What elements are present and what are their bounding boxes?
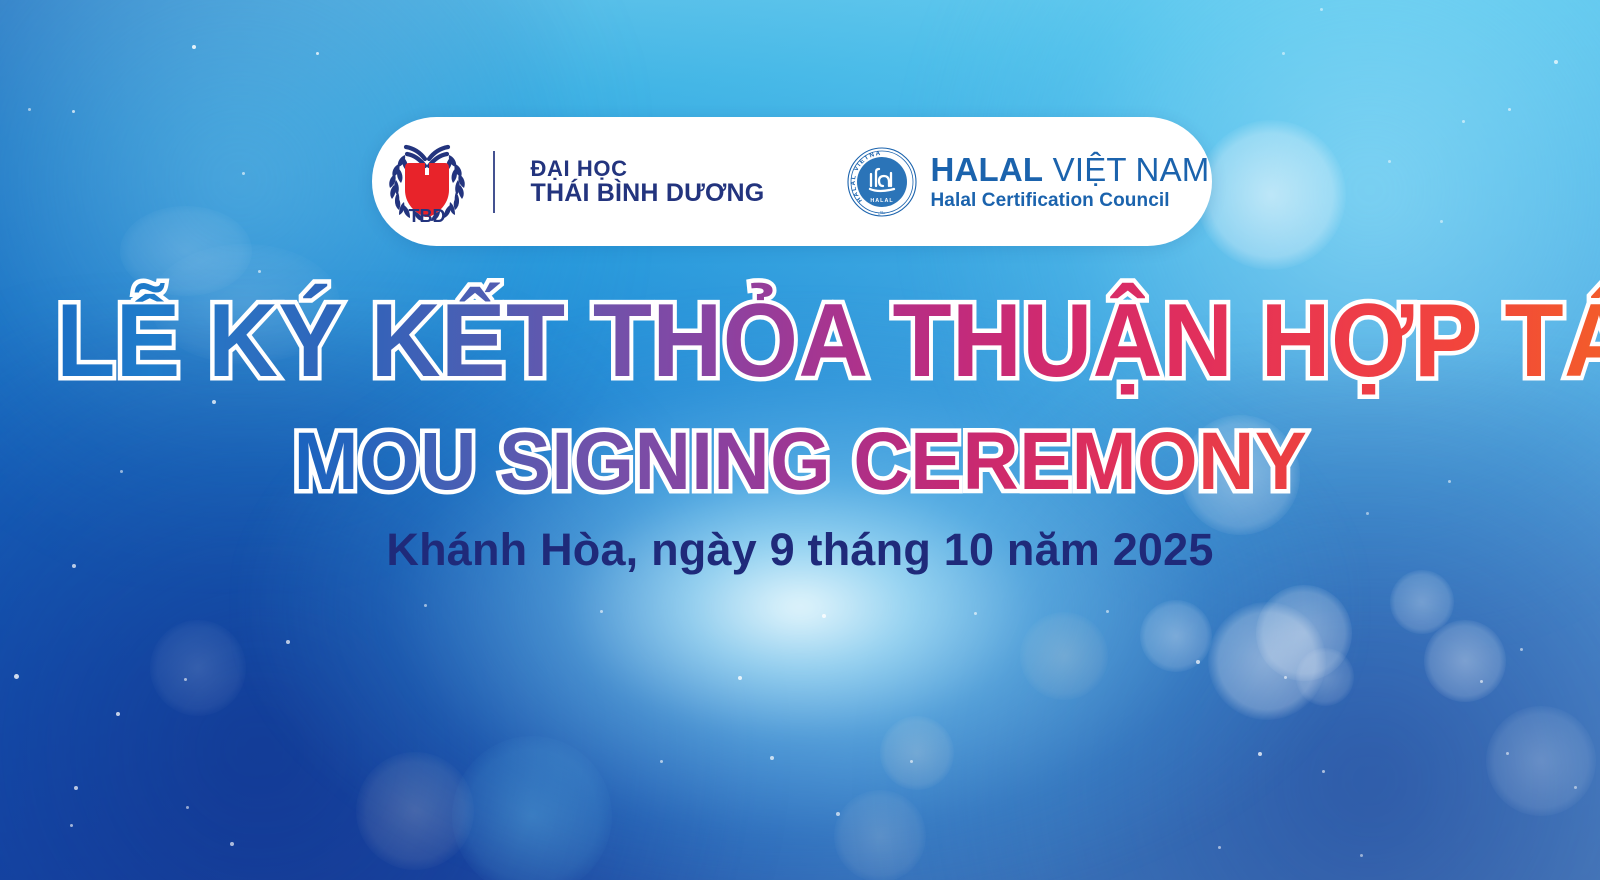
halal-name-line2: Halal Certification Council: [930, 191, 1209, 210]
svg-text:TBD: TBD: [408, 206, 445, 225]
banner-canvas: TBD ĐẠI HỌC THÁI BÌNH DƯƠNG HALAL VIETNA…: [0, 0, 1600, 880]
university-name-line2: THÁI BÌNH DƯƠNG: [531, 180, 765, 207]
headline-sub: MOU SIGNING CEREMONYMOU SIGNING CEREMONY: [40, 415, 1560, 509]
headline-main: LỄ KÝ KẾT THỎA THUẬN HỢP TÁCLỄ KÝ KẾT TH…: [56, 282, 1544, 401]
halal-word-bold: HALAL: [930, 151, 1043, 188]
halal-name-block: HALAL VIỆT NAM Halal Certification Counc…: [930, 153, 1209, 210]
svg-text:HALAL: HALAL: [871, 198, 894, 204]
university-logo-group: TBD ĐẠI HỌC THÁI BÌNH DƯƠNG: [375, 139, 787, 225]
headline-block: LỄ KÝ KẾT THỎA THUẬN HỢP TÁCLỄ KÝ KẾT TH…: [0, 282, 1600, 509]
headline-main-fill: LỄ KÝ KẾT THỎA THUẬN HỢP TÁC: [56, 282, 1600, 401]
tbd-book-laurel-emblem: TBD: [375, 139, 479, 225]
halal-vietnam-circular-seal: HALAL VIETNAM HALAL ‎حلال‎: [846, 146, 918, 218]
university-name-block: ĐẠI HỌC THÁI BÌNH DƯƠNG: [509, 157, 765, 207]
headline-sub-fill: MOU SIGNING CEREMONY: [294, 415, 1308, 509]
event-date: Khánh Hòa, ngày 9 tháng 10 năm 2025: [0, 524, 1600, 576]
university-name-line1: ĐẠI HỌC: [531, 157, 765, 180]
halal-word-rest: VIỆT NAM: [1053, 151, 1210, 188]
svg-text:‎حلال‎: ‎حلال‎: [878, 210, 887, 215]
logo-bar: TBD ĐẠI HỌC THÁI BÌNH DƯƠNG HALAL VIETNA…: [372, 117, 1212, 246]
halal-logo-group: HALAL VIETNAM HALAL ‎حلال‎ HALAL VIỆT NA…: [786, 146, 1209, 218]
logo-divider: [493, 151, 495, 213]
halal-name-line1: HALAL VIỆT NAM: [930, 153, 1209, 186]
